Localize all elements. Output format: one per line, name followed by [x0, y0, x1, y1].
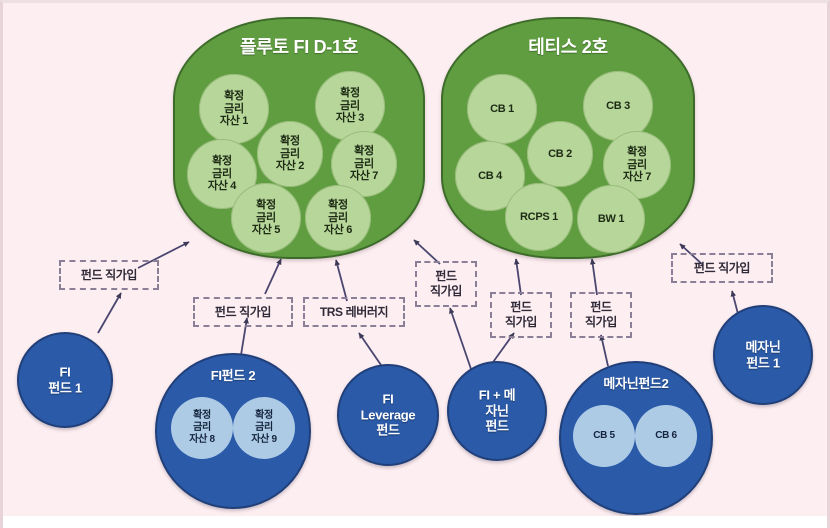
connector-fi-mez-to-tag4 [450, 308, 471, 369]
connector-tag3-to-pluto [336, 260, 347, 301]
relation-tag-fund-direct-5[interactable]: 펀드직가입 [490, 292, 552, 338]
sub-asset-fixed-8[interactable]: 확정금리자산 8 [171, 397, 233, 459]
diagram-canvas: 플루토 FI D-1호 확정금리자산 1 확정금리자산 3 확정금리자산 2 확… [0, 0, 830, 528]
investor-fund-mezzanine-1-label: 메자닌펀드 1 [715, 339, 811, 370]
asset-node-fixed-6[interactable]: 확정금리자산 6 [305, 185, 371, 251]
connector-tag5-to-tetis [516, 259, 521, 295]
asset-node-fixed-2[interactable]: 확정금리자산 2 [257, 121, 323, 187]
connector-tag6-to-tetis [592, 259, 597, 295]
relation-tag-trs-leverage[interactable]: TRS 레버러지 [303, 297, 405, 327]
asset-node-bw-1[interactable]: BW 1 [577, 185, 645, 253]
investor-fund-fi-1[interactable]: FI펀드 1 [17, 332, 113, 428]
investor-fund-fi-mezzanine-label: FI + 메자닌펀드 [449, 388, 545, 435]
asset-node-fixed-1[interactable]: 확정금리자산 1 [199, 74, 269, 144]
asset-node-cb-2[interactable]: CB 2 [527, 121, 593, 187]
fund-title-pluto: 플루토 FI D-1호 [175, 33, 423, 59]
asset-node-fixed-3[interactable]: 확정금리자산 3 [315, 71, 385, 141]
relation-tag-fund-direct-7[interactable]: 펀드 직가입 [671, 253, 773, 283]
relation-tag-fund-direct-4[interactable]: 펀드직가입 [415, 261, 477, 307]
investor-fund-fi-2-label: FI펀드 2 [157, 368, 309, 384]
investor-fund-fi-leverage-label: FILeverage펀드 [339, 392, 437, 439]
investor-fund-fi-mezzanine[interactable]: FI + 메자닌펀드 [447, 361, 547, 461]
investor-fund-fi-leverage[interactable]: FILeverage펀드 [337, 364, 439, 466]
investor-fund-mezzanine-1[interactable]: 메자닌펀드 1 [713, 305, 813, 405]
connector-fi-fund-1-to-pluto [98, 293, 121, 333]
asset-node-cb-1[interactable]: CB 1 [467, 74, 537, 144]
asset-node-rcps-1[interactable]: RCPS 1 [505, 183, 573, 251]
connector-mez2-to-tag6 [601, 335, 608, 366]
connector-tag2-to-pluto [265, 259, 281, 294]
asset-node-fixed-5[interactable]: 확정금리자산 5 [231, 183, 301, 253]
connector-fi-leverage-to-tag3 [359, 333, 381, 365]
relation-tag-fund-direct-1[interactable]: 펀드 직가입 [59, 260, 159, 290]
fund-container-tetis-2[interactable]: 테티스 2호 CB 1 CB 3 CB 2 CB 4 확정금리자산 7 RCPS… [441, 17, 695, 259]
investor-fund-mezzanine-2[interactable]: 메자닌펀드2 CB 5 CB 6 [559, 361, 713, 515]
sub-asset-cb-5[interactable]: CB 5 [573, 405, 635, 467]
investor-fund-fi-1-label: FI펀드 1 [19, 364, 111, 395]
sub-asset-fixed-9[interactable]: 확정금리자산 9 [233, 397, 295, 459]
fund-container-pluto-fi-d1[interactable]: 플루토 FI D-1호 확정금리자산 1 확정금리자산 3 확정금리자산 2 확… [173, 17, 425, 259]
fund-title-tetis: 테티스 2호 [443, 33, 693, 59]
investor-fund-mezzanine-2-label: 메자닌펀드2 [561, 376, 711, 392]
sub-asset-cb-6[interactable]: CB 6 [635, 405, 697, 467]
relation-tag-fund-direct-6[interactable]: 펀드직가입 [570, 292, 632, 338]
investor-fund-fi-2[interactable]: FI펀드 2 확정금리자산 8 확정금리자산 9 [155, 353, 311, 509]
relation-tag-fund-direct-2[interactable]: 펀드 직가입 [193, 297, 293, 327]
